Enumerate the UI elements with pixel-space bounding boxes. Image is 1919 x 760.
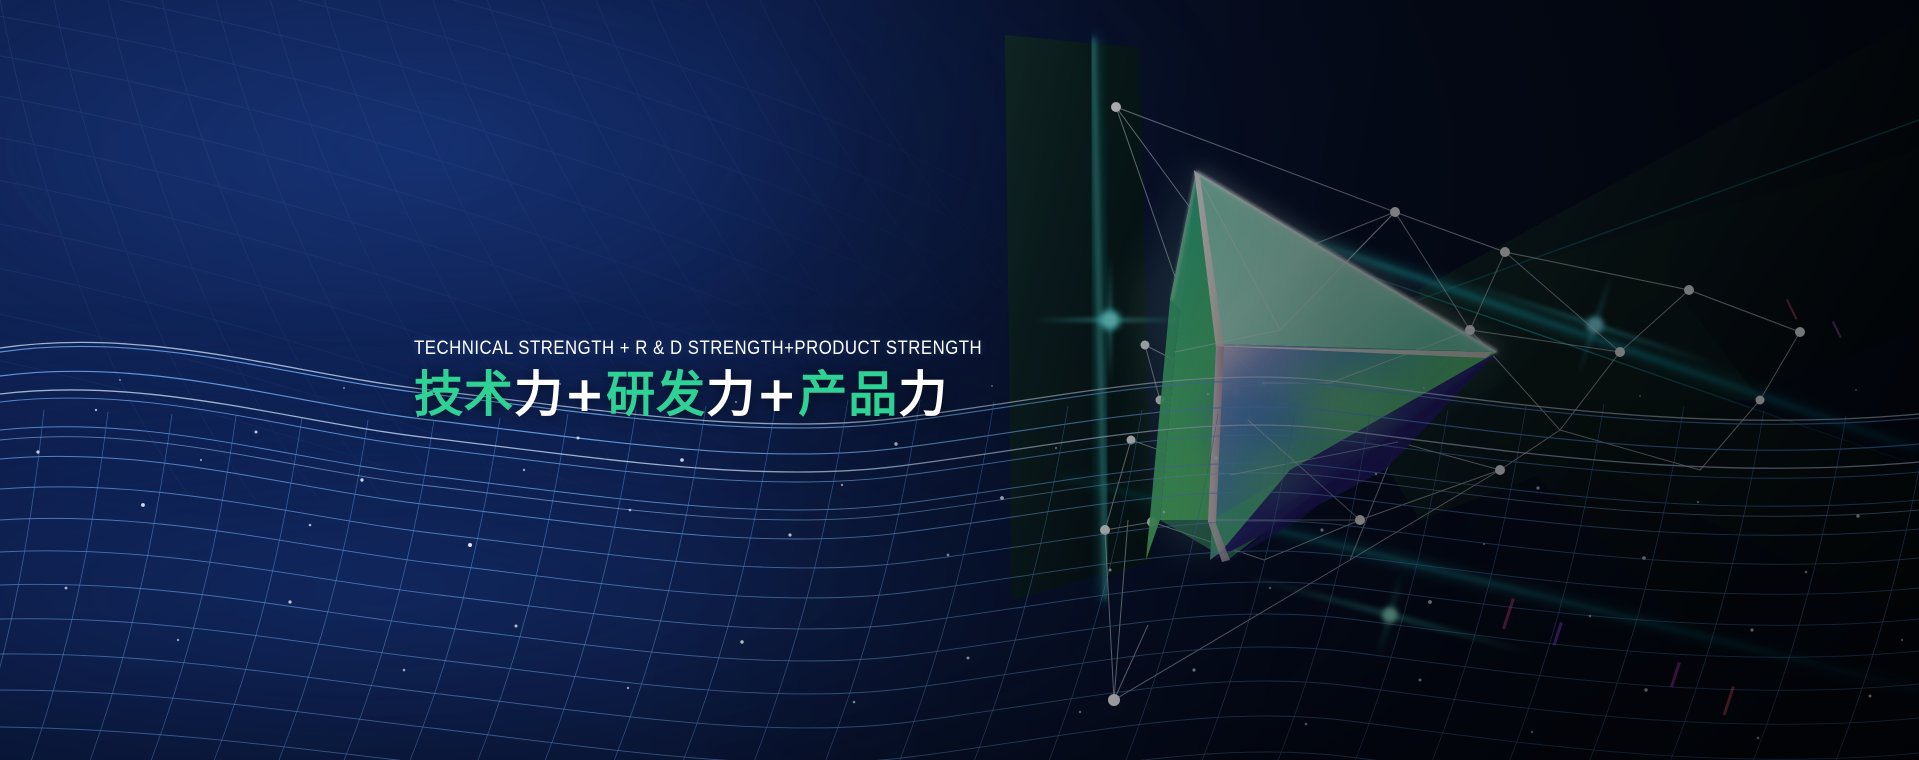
hero-headline: 技术力+研发力+产品力	[414, 365, 1075, 425]
hero-copy: TECHNICAL STRENGTH + R & D STRENGTH+PROD…	[414, 336, 1075, 425]
headline-seg-li-1: 力	[514, 366, 564, 423]
headline-seg-product: 产品	[798, 366, 898, 423]
headline-plus-2: +	[756, 366, 798, 423]
headline-seg-rd: 研发	[606, 366, 706, 423]
headline-seg-li-2: 力	[706, 366, 756, 423]
hero-eyebrow: TECHNICAL STRENGTH + R & D STRENGTH+PROD…	[414, 336, 982, 360]
headline-plus-1: +	[564, 366, 606, 423]
headline-seg-li-3: 力	[898, 366, 948, 423]
hero-banner: TECHNICAL STRENGTH + R & D STRENGTH+PROD…	[0, 0, 1919, 760]
headline-seg-tech: 技术	[414, 366, 514, 423]
